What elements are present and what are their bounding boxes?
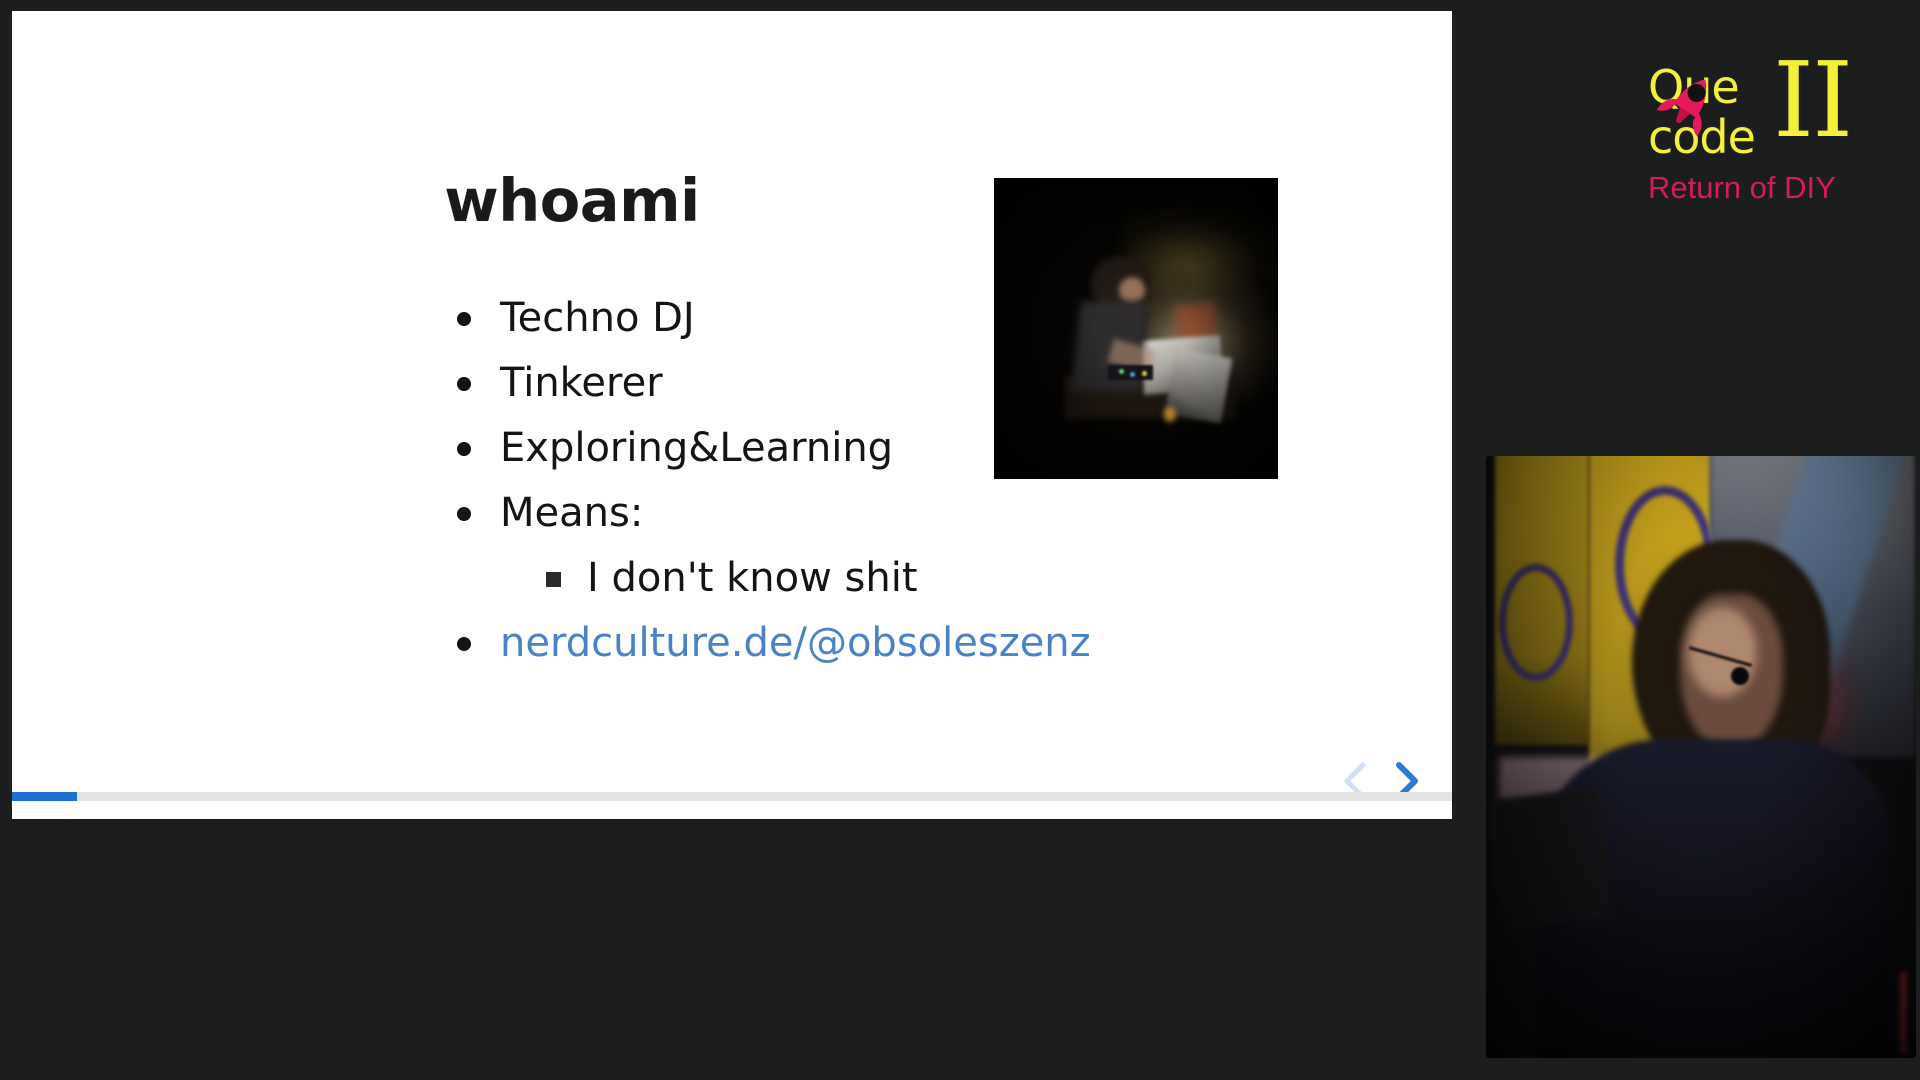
bullet-marker-dot — [457, 442, 471, 456]
photo-vignette — [994, 178, 1278, 479]
sub-bullet-label: I don't know shit — [587, 555, 918, 601]
bullet-marker-square — [546, 572, 561, 587]
presentation-viewport: whoami Techno DJ Tinkerer Exploring&Lear… — [0, 0, 1920, 1080]
logo-roman-numeral: II — [1773, 48, 1851, 152]
bullet-marker-dot — [457, 637, 471, 651]
dj-photo — [994, 178, 1278, 479]
profile-link[interactable]: nerdculture.de/@obsoleszenz — [500, 620, 1091, 666]
logo-wordmark: Que code II — [1648, 62, 1868, 174]
slide-surface[interactable]: whoami Techno DJ Tinkerer Exploring&Lear… — [12, 11, 1452, 819]
bullet-marker-dot — [457, 507, 471, 521]
bullet-label: Means: — [500, 490, 643, 536]
cam-vignette — [1486, 456, 1916, 1058]
bullet-marker-dot — [457, 312, 471, 326]
sub-bullet-item: I don't know shit — [452, 546, 1352, 611]
slide-title: whoami — [12, 171, 1132, 230]
bullet-label: Tinkerer — [500, 360, 663, 406]
slide-content: whoami Techno DJ Tinkerer Exploring&Lear… — [12, 11, 1452, 801]
slide-progress-track[interactable] — [12, 792, 1452, 801]
bullet-marker-dot — [457, 377, 471, 391]
bullet-item-link[interactable]: nerdculture.de/@obsoleszenz — [452, 611, 1352, 676]
logo-tagline: Return of DIY — [1648, 170, 1836, 206]
slide-progress-fill — [12, 792, 77, 801]
speaker-video-feed[interactable] — [1486, 456, 1916, 1058]
bullet-item: Means: — [452, 481, 1352, 546]
bullet-label: Exploring&Learning — [500, 425, 893, 471]
conference-logo: Que code II Return of DIY — [1648, 62, 1868, 212]
bullet-label: Techno DJ — [500, 295, 695, 341]
